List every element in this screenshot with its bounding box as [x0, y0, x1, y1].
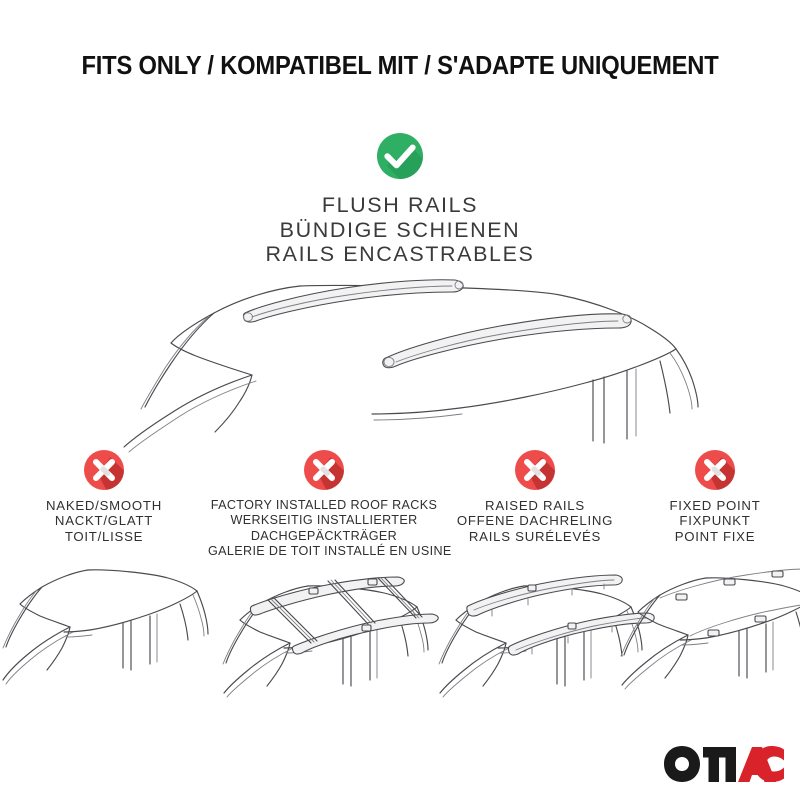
- label-fr: POINT FIXE: [630, 529, 800, 544]
- incompatible-section: NAKED/SMOOTH NACKT/GLATT TOIT/LISSE: [0, 450, 800, 560]
- car-roof-raised-rails-illustration: [432, 558, 622, 693]
- car-roof-factory-racks-illustration: [208, 558, 440, 693]
- label-de: NACKT/GLATT: [0, 513, 208, 528]
- compatible-label-de: BÜNDIGE SCHIENEN: [0, 218, 800, 243]
- car-roof-fixed-point-illustration: [620, 558, 790, 693]
- incompatible-item-factory-racks: FACTORY INSTALLED ROOF RACKS WERKSEITIG …: [208, 450, 440, 560]
- label-en: NAKED/SMOOTH: [0, 498, 208, 513]
- x-circle-icon: [84, 450, 124, 490]
- incompatible-item-raised-rails: RAISED RAILS OFFENE DACHRELING RAILS SUR…: [440, 450, 630, 544]
- page-title: FITS ONLY / KOMPATIBEL MIT / S'ADAPTE UN…: [28, 52, 772, 81]
- car-roof-factory-racks-svg: [208, 558, 440, 688]
- x-circle-icon: [695, 450, 735, 490]
- x-circle-icon: [304, 450, 344, 490]
- incompatible-labels-naked-smooth: NAKED/SMOOTH NACKT/GLATT TOIT/LISSE: [0, 498, 208, 544]
- car-roof-flush-rails-svg: [0, 273, 800, 453]
- x-circle-icon: [515, 450, 555, 490]
- omac-logo: [664, 745, 784, 785]
- incompatible-labels-factory-racks: FACTORY INSTALLED ROOF RACKS WERKSEITIG …: [208, 498, 440, 560]
- label-de: FIXPUNKT: [630, 513, 800, 528]
- label-de-2: DACHGEPÄCKTRÄGER: [208, 529, 440, 544]
- label-en: RAISED RAILS: [440, 498, 630, 513]
- label-en: FACTORY INSTALLED ROOF RACKS: [208, 498, 440, 513]
- omac-logo-svg: [664, 745, 784, 784]
- check-circle-icon: [377, 133, 423, 179]
- incompatible-item-naked-smooth: NAKED/SMOOTH NACKT/GLATT TOIT/LISSE: [0, 450, 208, 544]
- page-header: FITS ONLY / KOMPATIBEL MIT / S'ADAPTE UN…: [0, 52, 800, 81]
- logo-letter-m: [703, 747, 736, 782]
- car-roof-naked-illustration: [0, 558, 208, 693]
- compatible-label-en: FLUSH RAILS: [0, 193, 800, 218]
- incompatible-labels-raised-rails: RAISED RAILS OFFENE DACHRELING RAILS SUR…: [440, 498, 630, 544]
- label-de: OFFENE DACHRELING: [440, 513, 630, 528]
- compatible-section: FLUSH RAILS BÜNDIGE SCHIENEN RAILS ENCAS…: [0, 133, 800, 267]
- compatible-labels: FLUSH RAILS BÜNDIGE SCHIENEN RAILS ENCAS…: [0, 193, 800, 267]
- incompatible-item-fixed-point: FIXED POINT FIXPUNKT POINT FIXE: [630, 450, 800, 544]
- logo-letter-o: [664, 746, 700, 782]
- label-fr: RAILS SURÉLEVÉS: [440, 529, 630, 544]
- label-de-1: WERKSEITIG INSTALLIERTER: [208, 513, 440, 528]
- label-en: FIXED POINT: [630, 498, 800, 513]
- car-roof-naked-svg: [0, 558, 208, 688]
- incompatible-labels-fixed-point: FIXED POINT FIXPUNKT POINT FIXE: [630, 498, 800, 544]
- car-roof-flush-rails-illustration: [0, 273, 800, 453]
- car-roof-raised-rails-svg: [432, 558, 632, 688]
- compatible-label-fr: RAILS ENCASTRABLES: [0, 242, 800, 267]
- label-fr: TOIT/LISSE: [0, 529, 208, 544]
- car-roof-fixed-point-svg: [620, 558, 800, 688]
